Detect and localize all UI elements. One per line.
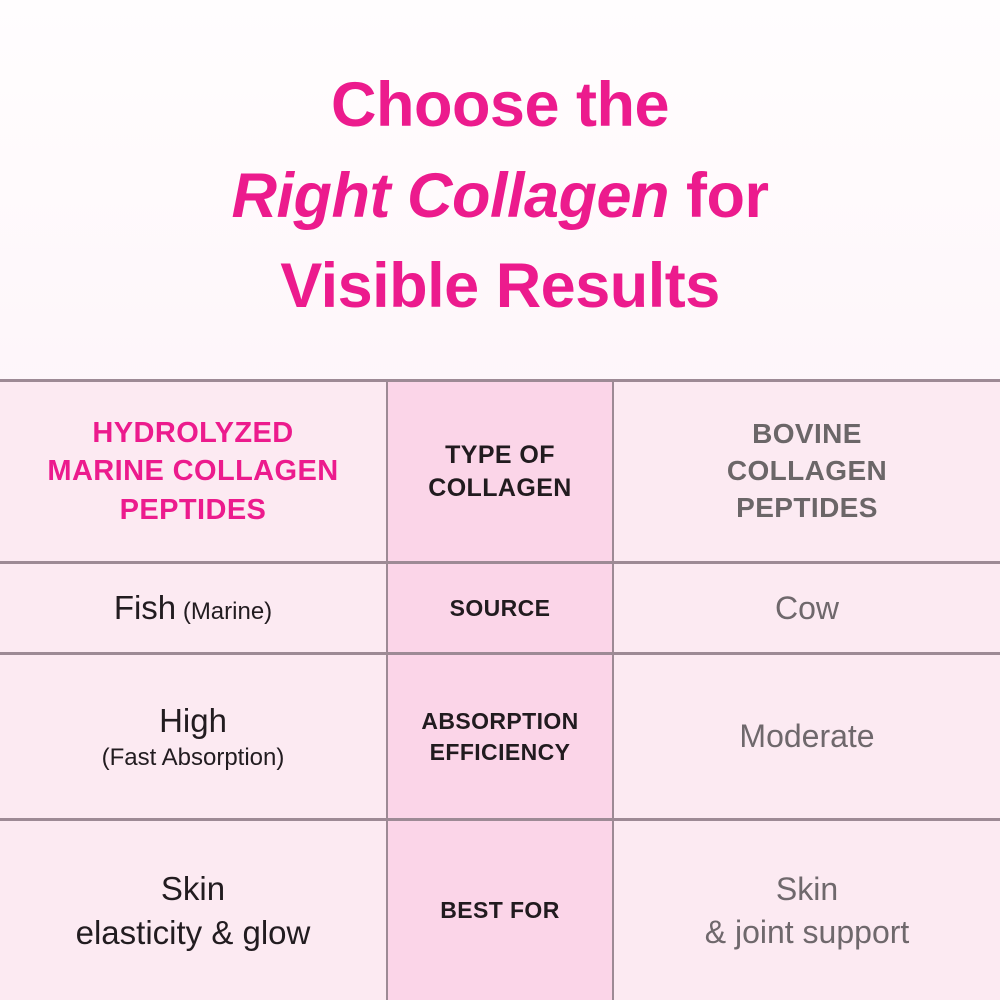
label-absorption-efficiency: ABSORPTION EFFICIENCY: [386, 655, 614, 818]
bovine-best-for-main: Skin: [705, 868, 910, 910]
comparison-table: HYDROLYZED MARINE COLLAGEN PEPTIDES TYPE…: [0, 379, 1000, 1000]
label-source: SOURCE: [386, 564, 614, 652]
headline-line-3: Visible Results: [0, 241, 1000, 332]
header-marine-line-1: HYDROLYZED: [47, 414, 338, 452]
header-attribute-line-1: TYPE OF: [428, 439, 571, 472]
table-row: Skin elasticity & glow BEST FOR Skin & j…: [0, 821, 1000, 1000]
marine-best-for-sub: elasticity & glow: [76, 911, 311, 955]
cell-bovine-best-for: Skin & joint support: [614, 821, 1000, 1000]
cell-bovine-absorption: Moderate: [614, 655, 1000, 818]
table-row: Fish (Marine) SOURCE Cow: [0, 564, 1000, 655]
table-header-row: HYDROLYZED MARINE COLLAGEN PEPTIDES TYPE…: [0, 382, 1000, 564]
marine-absorption-main: High: [102, 699, 285, 743]
header-bovine-line-3: PEPTIDES: [727, 490, 887, 527]
bovine-absorption-main: Moderate: [739, 715, 874, 757]
label-best-for: BEST FOR: [386, 821, 614, 1000]
label-absorption-line-2: EFFICIENCY: [421, 737, 578, 767]
marine-best-for-main: Skin: [76, 867, 311, 911]
marine-source-sub: (Marine): [176, 598, 272, 625]
headline-line-2-rest: for: [669, 161, 768, 231]
header-bovine-line-1: BOVINE: [727, 416, 887, 453]
header-cell-attribute: TYPE OF COLLAGEN: [386, 382, 614, 561]
header-bovine-line-2: COLLAGEN: [727, 453, 887, 490]
label-absorption-line-1: ABSORPTION: [421, 706, 578, 736]
header-marine-line-3: PEPTIDES: [47, 491, 338, 529]
table-row: High (Fast Absorption) ABSORPTION EFFICI…: [0, 655, 1000, 821]
header-marine-line-2: MARINE COLLAGEN: [47, 452, 338, 490]
bovine-best-for-sub: & joint support: [705, 911, 910, 953]
header-cell-marine-collagen: HYDROLYZED MARINE COLLAGEN PEPTIDES: [0, 382, 386, 561]
headline-emphasis: Right Collagen: [232, 161, 669, 231]
bovine-source-main: Cow: [775, 587, 839, 629]
header-attribute-line-2: COLLAGEN: [428, 472, 571, 505]
cell-marine-source: Fish (Marine): [0, 564, 386, 652]
infographic-poster: Choose the Right Collagen for Visible Re…: [0, 0, 1000, 1000]
page-title: Choose the Right Collagen for Visible Re…: [0, 0, 1000, 381]
headline-line-1: Choose the: [0, 60, 1000, 151]
headline-line-2: Right Collagen for: [0, 151, 1000, 242]
cell-marine-best-for: Skin elasticity & glow: [0, 821, 386, 1000]
marine-absorption-sub: (Fast Absorption): [102, 742, 285, 774]
header-cell-bovine-collagen: BOVINE COLLAGEN PEPTIDES: [614, 382, 1000, 561]
cell-bovine-source: Cow: [614, 564, 1000, 652]
marine-source-main: Fish: [114, 589, 176, 626]
cell-marine-absorption: High (Fast Absorption): [0, 655, 386, 818]
